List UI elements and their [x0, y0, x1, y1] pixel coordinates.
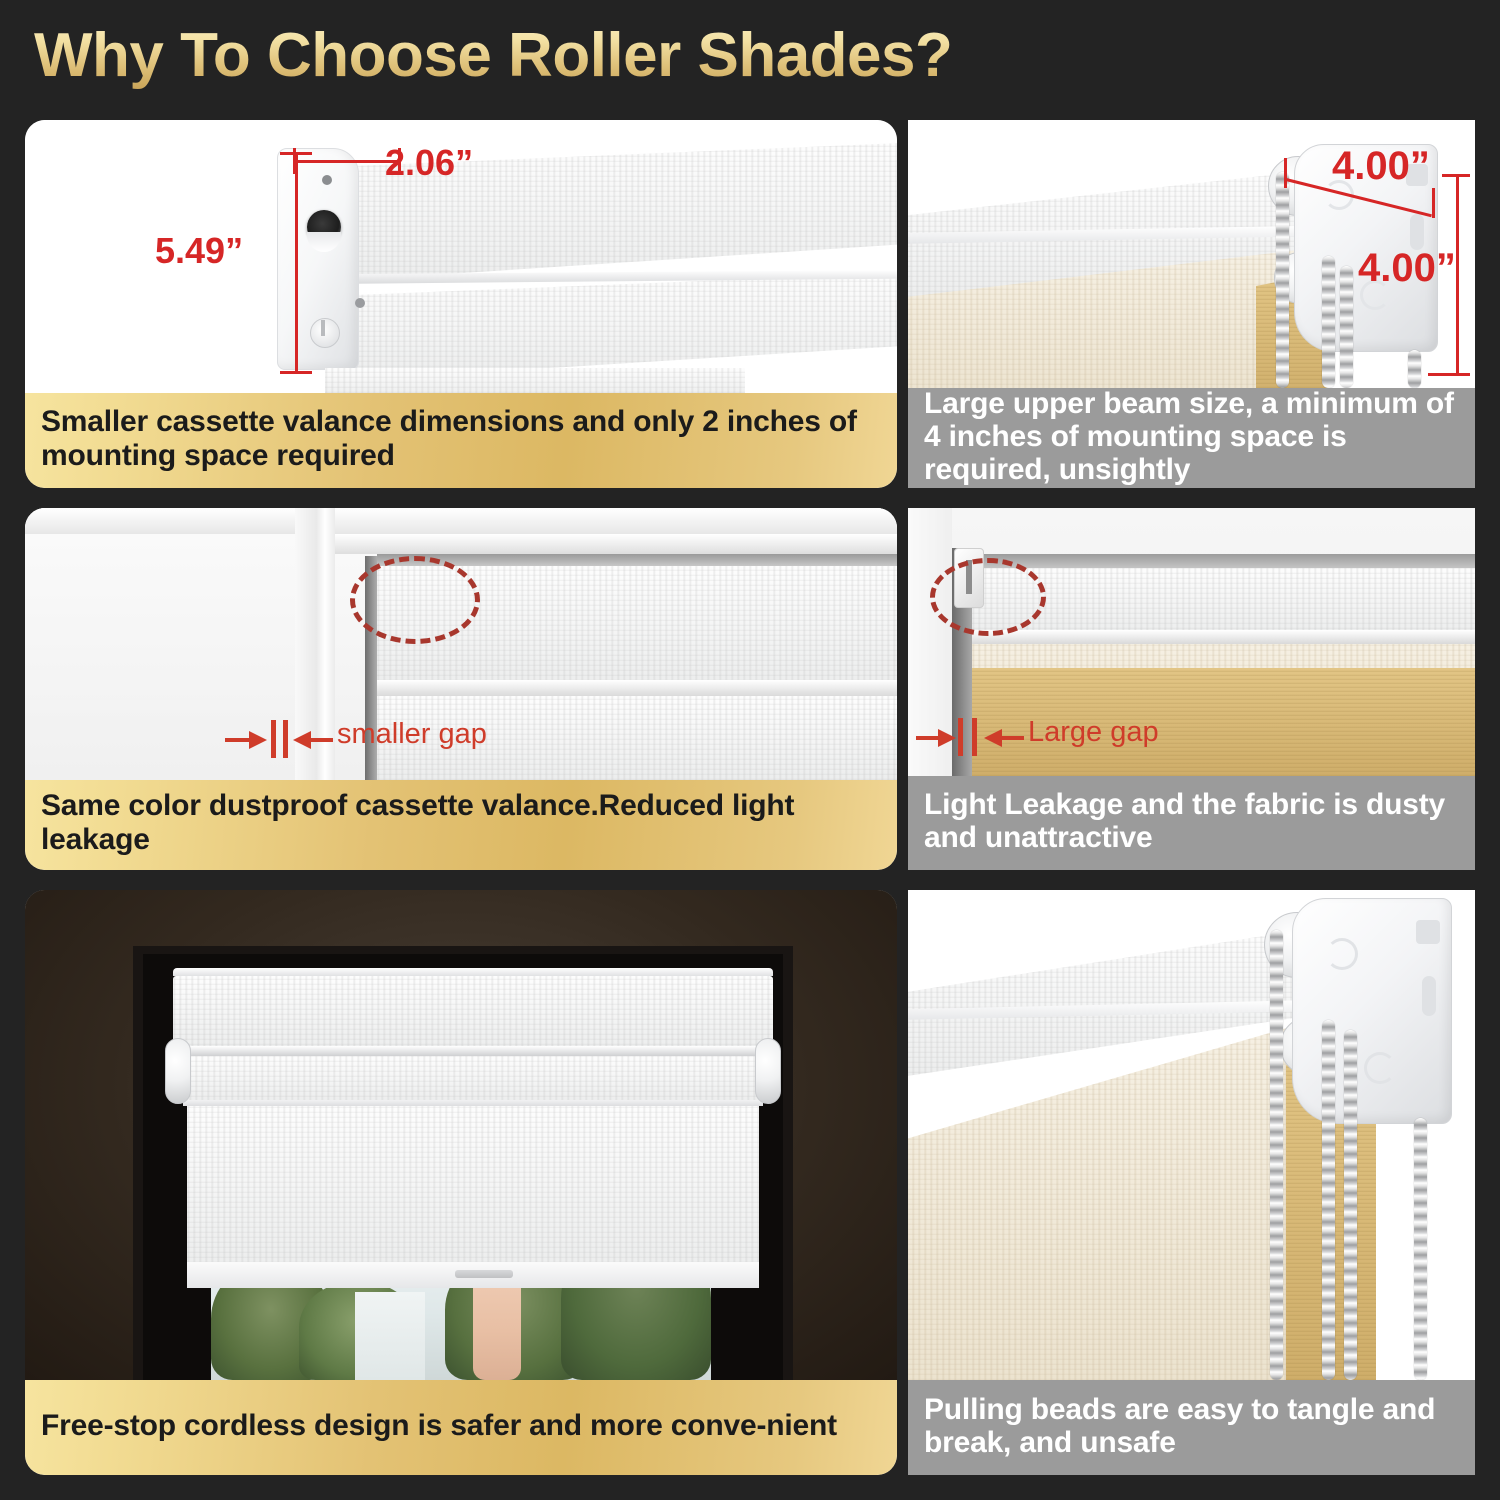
caption-bar: Light Leakage and the fabric is dusty an… — [908, 776, 1475, 870]
caption-bar: Pulling beads are easy to tangle and bre… — [908, 1380, 1475, 1475]
pulling-beads-photo — [908, 890, 1475, 1380]
cordless-window-photo — [25, 890, 897, 1380]
gap-arrow-right-icon — [249, 731, 267, 749]
bead-chain — [1322, 1020, 1335, 1380]
caption-text: Free-stop cordless design is safer and m… — [41, 1409, 837, 1443]
beam-height-dimension-line — [1456, 174, 1459, 376]
large-gap-photo: Large gap — [908, 508, 1475, 776]
bead-chain — [1270, 930, 1283, 1380]
caption-bar: Large upper beam size, a minimum of 4 in… — [908, 388, 1475, 488]
caption-bar: Smaller cassette valance dimensions and … — [25, 393, 897, 488]
panel-cassette-dimensions: 2.06” 5.49” Smaller cassette valance dim… — [25, 120, 897, 488]
bead-chain — [1276, 172, 1289, 388]
bead-chain — [1340, 266, 1353, 388]
beam-height-label: 4.00” — [1358, 246, 1456, 291]
panel-pulling-beads: Pulling beads are easy to tangle and bre… — [908, 890, 1475, 1475]
gap-arrow-left-icon — [293, 731, 311, 749]
panel-large-gap: Large gap Light Leakage and the fabric i… — [908, 508, 1475, 870]
panel-large-upper-beam: 4.00” 4.00” Large upper beam size, a min… — [908, 120, 1475, 488]
seam-highlight-ellipse — [350, 556, 480, 644]
bracket-highlight-ellipse — [930, 558, 1046, 636]
caption-text: Pulling beads are easy to tangle and bre… — [924, 1393, 1459, 1459]
width-dimension-label: 2.06” — [385, 142, 473, 184]
beam-width-label: 4.00” — [1332, 144, 1430, 189]
panel-smaller-gap: smaller gap Same color dustproof cassett… — [25, 508, 897, 870]
caption-bar: Same color dustproof cassette valance.Re… — [25, 780, 897, 870]
caption-text: Same color dustproof cassette valance.Re… — [41, 789, 881, 857]
panel-cordless-design: Free-stop cordless design is safer and m… — [25, 890, 897, 1475]
page-title: Why To Choose Roller Shades? — [34, 20, 952, 91]
height-dimension-line — [295, 152, 298, 374]
height-dimension-label: 5.49” — [155, 230, 243, 272]
cassette-valance-photo: 2.06” 5.49” — [25, 120, 897, 398]
large-beam-photo: 4.00” 4.00” — [908, 120, 1475, 388]
caption-bar: Free-stop cordless design is safer and m… — [25, 1380, 897, 1475]
bead-chain — [1414, 1118, 1427, 1380]
gap-arrow-left-icon — [984, 729, 1002, 747]
caption-text: Large upper beam size, a minimum of 4 in… — [924, 387, 1459, 486]
bead-chain — [1344, 1030, 1357, 1380]
smaller-gap-photo: smaller gap — [25, 508, 897, 780]
caption-text: Light Leakage and the fabric is dusty an… — [924, 788, 1459, 854]
caption-text: Smaller cassette valance dimensions and … — [41, 405, 881, 473]
gap-arrow-right-icon — [938, 729, 956, 747]
bead-chain — [1408, 350, 1421, 388]
infographic-root: Why To Choose Roller Shades? 2.06” — [0, 0, 1500, 1500]
gap-label: Large gap — [1028, 716, 1159, 749]
gap-label: smaller gap — [337, 718, 487, 751]
bead-chain — [1322, 256, 1335, 388]
